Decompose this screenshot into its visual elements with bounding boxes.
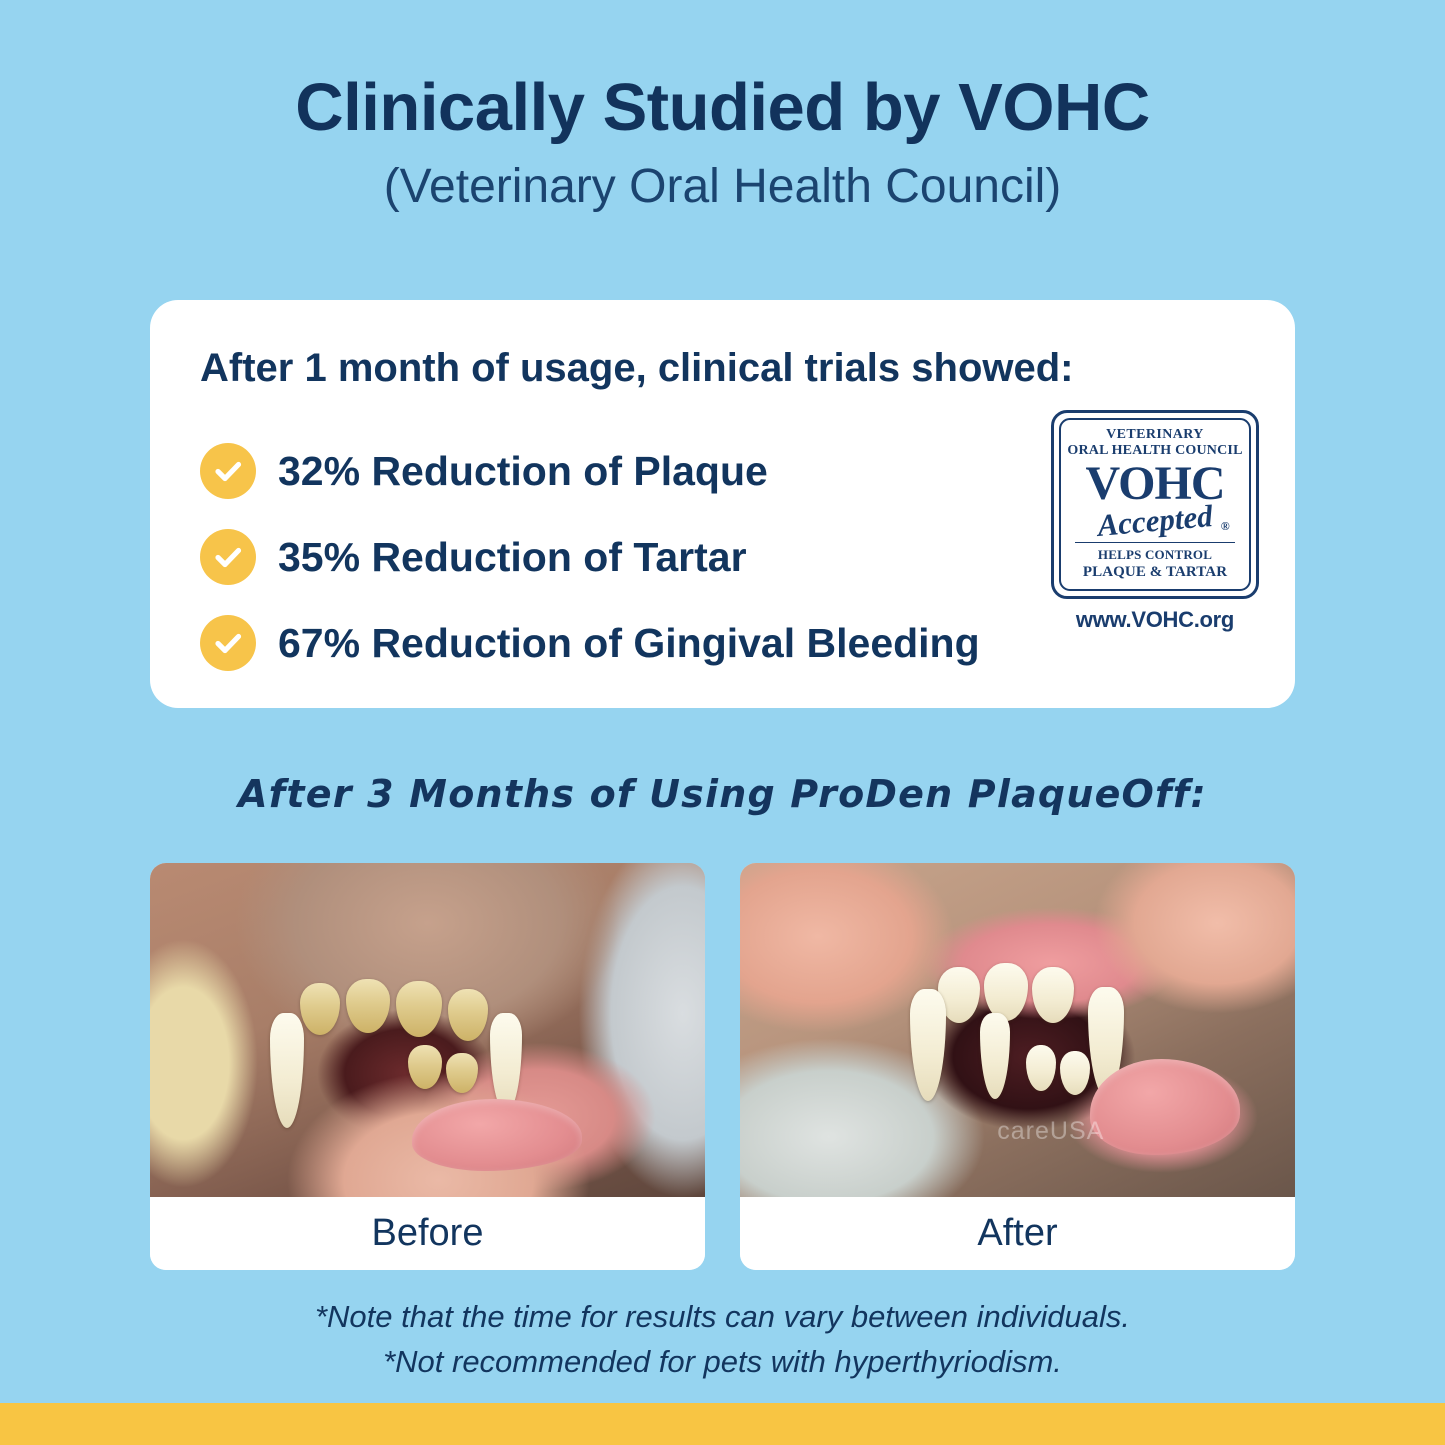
after-label: After	[740, 1197, 1295, 1270]
before-card: Before	[150, 863, 705, 1270]
footnote-1: *Note that the time for results can vary…	[0, 1295, 1445, 1340]
before-after-row: Before careUSA After	[150, 863, 1295, 1270]
list-item: 35% Reduction of Tartar	[200, 514, 1030, 600]
seal-outer-border: VETERINARY ORAL HEALTH COUNCIL VOHC Acce…	[1051, 410, 1259, 599]
seal-plaque-tartar-text: PLAQUE & TARTAR	[1067, 563, 1243, 581]
seal-helps-text: HELPS CONTROL	[1067, 547, 1243, 563]
check-icon	[200, 615, 256, 671]
list-item: 67% Reduction of Gingival Bleeding	[200, 600, 1030, 686]
check-icon	[200, 529, 256, 585]
stat-label: 35% Reduction of Tartar	[278, 537, 747, 578]
after-photo: careUSA	[740, 863, 1295, 1197]
bottom-accent-strip	[0, 1403, 1445, 1445]
footnote-2: *Not recommended for pets with hyperthyr…	[0, 1340, 1445, 1385]
seal-inner-border: VETERINARY ORAL HEALTH COUNCIL VOHC Acce…	[1059, 418, 1251, 591]
after-card: careUSA After	[740, 863, 1295, 1270]
infographic-page: Clinically Studied by VOHC (Veterinary O…	[0, 0, 1445, 1445]
page-title: Clinically Studied by VOHC	[0, 74, 1445, 141]
list-item: 32% Reduction of Plaque	[200, 428, 1030, 514]
clinical-results-card: After 1 month of usage, clinical trials …	[150, 300, 1295, 708]
check-icon	[200, 443, 256, 499]
vohc-accepted-seal: VETERINARY ORAL HEALTH COUNCIL VOHC Acce…	[1051, 410, 1259, 633]
seal-line-1: VETERINARY	[1067, 427, 1243, 443]
photo-watermark: careUSA	[997, 1117, 1104, 1146]
before-label: Before	[150, 1197, 705, 1270]
registered-trademark-icon: ®	[1221, 520, 1230, 532]
seal-url: www.VOHC.org	[1051, 607, 1259, 633]
stat-label: 67% Reduction of Gingival Bleeding	[278, 623, 980, 664]
page-subtitle: (Veterinary Oral Health Council)	[0, 163, 1445, 211]
stat-label: 32% Reduction of Plaque	[278, 451, 768, 492]
comparison-heading: After 3 Months of Using ProDen PlaqueOff…	[0, 772, 1445, 816]
header: Clinically Studied by VOHC (Veterinary O…	[0, 74, 1445, 211]
before-photo	[150, 863, 705, 1197]
clinical-results-heading: After 1 month of usage, clinical trials …	[200, 346, 1074, 390]
clinical-results-list: 32% Reduction of Plaque 35% Reduction of…	[200, 428, 1030, 686]
footnotes: *Note that the time for results can vary…	[0, 1295, 1445, 1385]
